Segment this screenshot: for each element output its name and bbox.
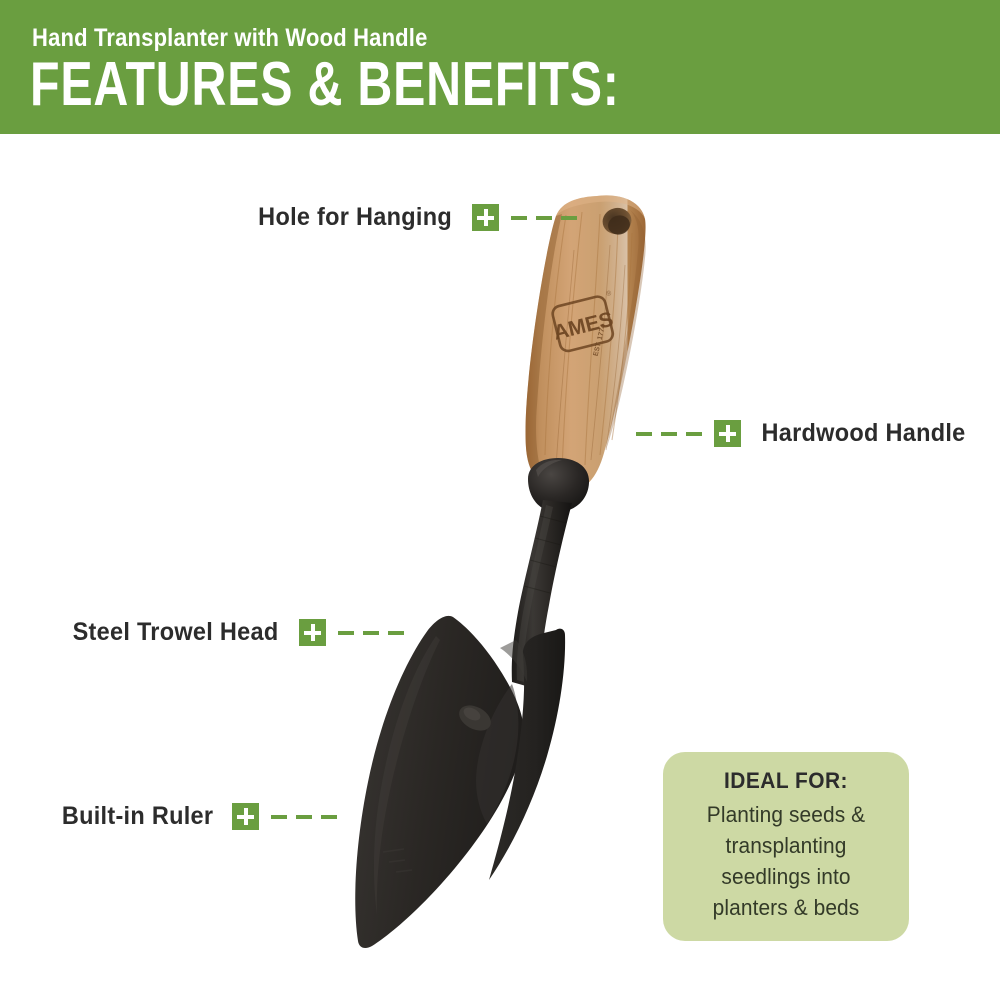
wood-handle [525,195,645,492]
svg-text:®: ® [605,289,613,298]
infographic-page: Hand Transplanter with Wood Handle FEATU… [0,0,1000,1000]
dash-segment [636,432,652,436]
plus-icon [714,420,741,447]
callout-hardwood-handle[interactable]: Hardwood Handle [636,419,972,448]
plus-icon [232,803,259,830]
brand-logo: AMES EST. 1774 ® [547,289,627,366]
header-banner: Hand Transplanter with Wood Handle FEATU… [0,0,1000,134]
dash-segment [296,815,312,819]
callout-label: Hardwood Handle [762,419,966,448]
callout-built-in-ruler[interactable]: Built-in Ruler [57,802,337,831]
plus-icon [299,619,326,646]
ferrule [528,458,589,512]
callout-label: Hole for Hanging [258,203,452,232]
dash-segment [686,432,702,436]
trowel-blade [355,616,565,948]
ideal-for-body: Planting seeds & transplanting seedlings… [682,799,889,923]
dash-segment [388,631,404,635]
callout-steel-trowel-head[interactable]: Steel Trowel Head [66,618,404,647]
leader-line [636,432,702,436]
dash-segment [561,216,577,220]
dash-segment [511,216,527,220]
ideal-for-card: IDEAL FOR: Planting seeds & transplantin… [663,752,909,941]
svg-text:EST. 1774: EST. 1774 [593,324,608,357]
plus-icon [472,204,499,231]
shank [512,500,572,690]
dash-segment [661,432,677,436]
page-title: FEATURES & BENEFITS: [30,52,620,118]
product-subtitle: Hand Transplanter with Wood Handle [32,24,428,53]
dash-segment [271,815,287,819]
dash-segment [321,815,337,819]
dash-segment [536,216,552,220]
leader-line [511,216,577,220]
leader-line [271,815,337,819]
callout-label: Steel Trowel Head [73,618,279,647]
hanging-hole [600,205,634,237]
dash-segment [338,631,354,635]
svg-text:AMES: AMES [551,308,615,345]
callout-label: Built-in Ruler [62,802,213,831]
ideal-for-heading: IDEAL FOR: [682,768,889,794]
callout-hole-for-hanging[interactable]: Hole for Hanging [252,203,577,232]
leader-line [338,631,404,635]
dash-segment [363,631,379,635]
